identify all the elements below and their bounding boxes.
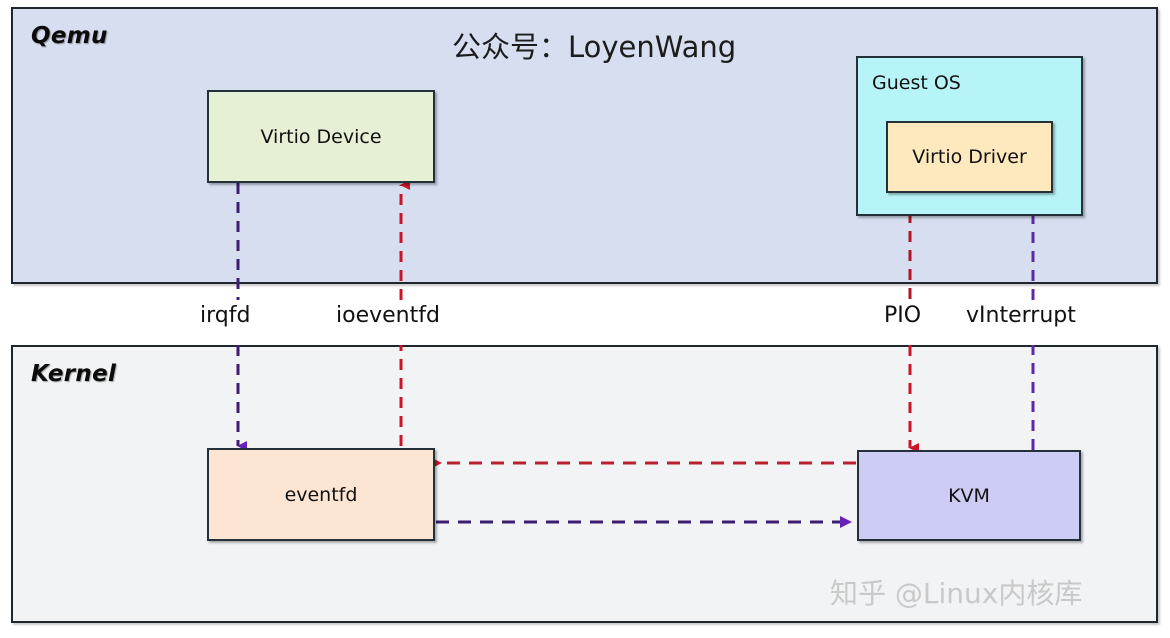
eventfd-label: eventfd <box>285 484 358 506</box>
eventfd-box[interactable]: eventfd <box>207 448 435 541</box>
kernel-zone-label: Kernel <box>31 361 116 387</box>
guest-os-label: Guest OS <box>872 72 961 94</box>
edge-label-vinterrupt: vInterrupt <box>966 303 1076 328</box>
bottom-watermark: 知乎 @Linux内核库 <box>830 572 1082 612</box>
qemu-zone-label: Qemu <box>31 23 108 49</box>
edge-label-pio: PIO <box>884 303 921 328</box>
diagram-canvas: Qemu Kernel 公众号：LoyenWang 知乎 @Linux内核库 <box>0 0 1170 638</box>
top-watermark: 公众号：LoyenWang <box>452 24 736 66</box>
kvm-box[interactable]: KVM <box>857 450 1081 541</box>
kvm-label: KVM <box>948 485 990 507</box>
virtio-driver-box[interactable]: Virtio Driver <box>886 121 1053 193</box>
virtio-device-label: Virtio Device <box>260 126 381 148</box>
virtio-device-box[interactable]: Virtio Device <box>207 90 435 183</box>
virtio-driver-label: Virtio Driver <box>912 146 1027 168</box>
edge-label-ioeventfd: ioeventfd <box>336 303 440 328</box>
edge-label-irqfd: irqfd <box>200 303 250 328</box>
